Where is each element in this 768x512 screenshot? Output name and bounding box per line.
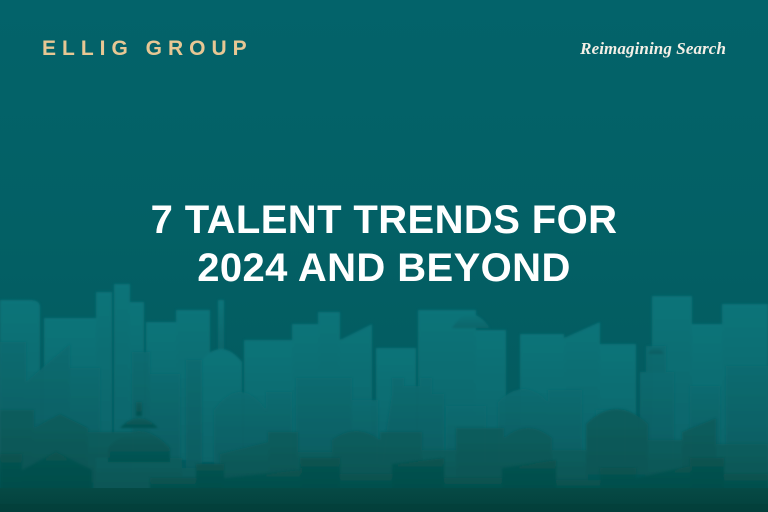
- slide-header: ELLIG GROUP Reimagining Search: [0, 0, 768, 96]
- slide-title: 7 TALENT TRENDS FOR 2024 AND BEYOND: [0, 196, 768, 292]
- ellig-group-logo: ELLIG GROUP: [42, 38, 253, 59]
- page-title-line-2: 2024 AND BEYOND: [40, 244, 728, 292]
- city-skyline-illustration: [0, 282, 768, 512]
- title-slide: ELLIG GROUP Reimagining Search 7 TALENT …: [0, 0, 768, 512]
- page-title-line-1: 7 TALENT TRENDS FOR: [40, 196, 728, 244]
- brand-tagline: Reimagining Search: [580, 40, 726, 57]
